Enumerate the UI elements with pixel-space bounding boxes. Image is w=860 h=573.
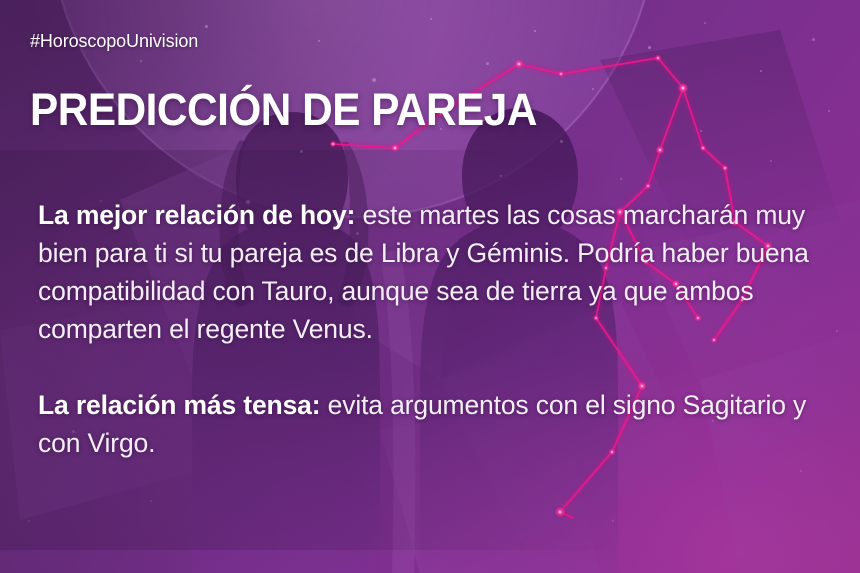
- body-text: La mejor relación de hoy: este martes la…: [38, 196, 838, 462]
- page-title: PREDICCIÓN DE PAREJA: [30, 87, 537, 132]
- hashtag-label: #HoroscopoUnivision: [30, 31, 198, 52]
- card-content: #HoroscopoUnivision PREDICCIÓN DE PAREJA…: [0, 0, 860, 573]
- paragraph-tense-match: La relación más tensa: evita argumentos …: [38, 386, 838, 462]
- horoscope-card: #HoroscopoUnivision PREDICCIÓN DE PAREJA…: [0, 0, 860, 573]
- paragraph-tense-match-lead: La relación más tensa:: [38, 390, 320, 420]
- paragraph-best-match-lead: La mejor relación de hoy:: [38, 200, 355, 230]
- paragraph-best-match: La mejor relación de hoy: este martes la…: [38, 196, 838, 348]
